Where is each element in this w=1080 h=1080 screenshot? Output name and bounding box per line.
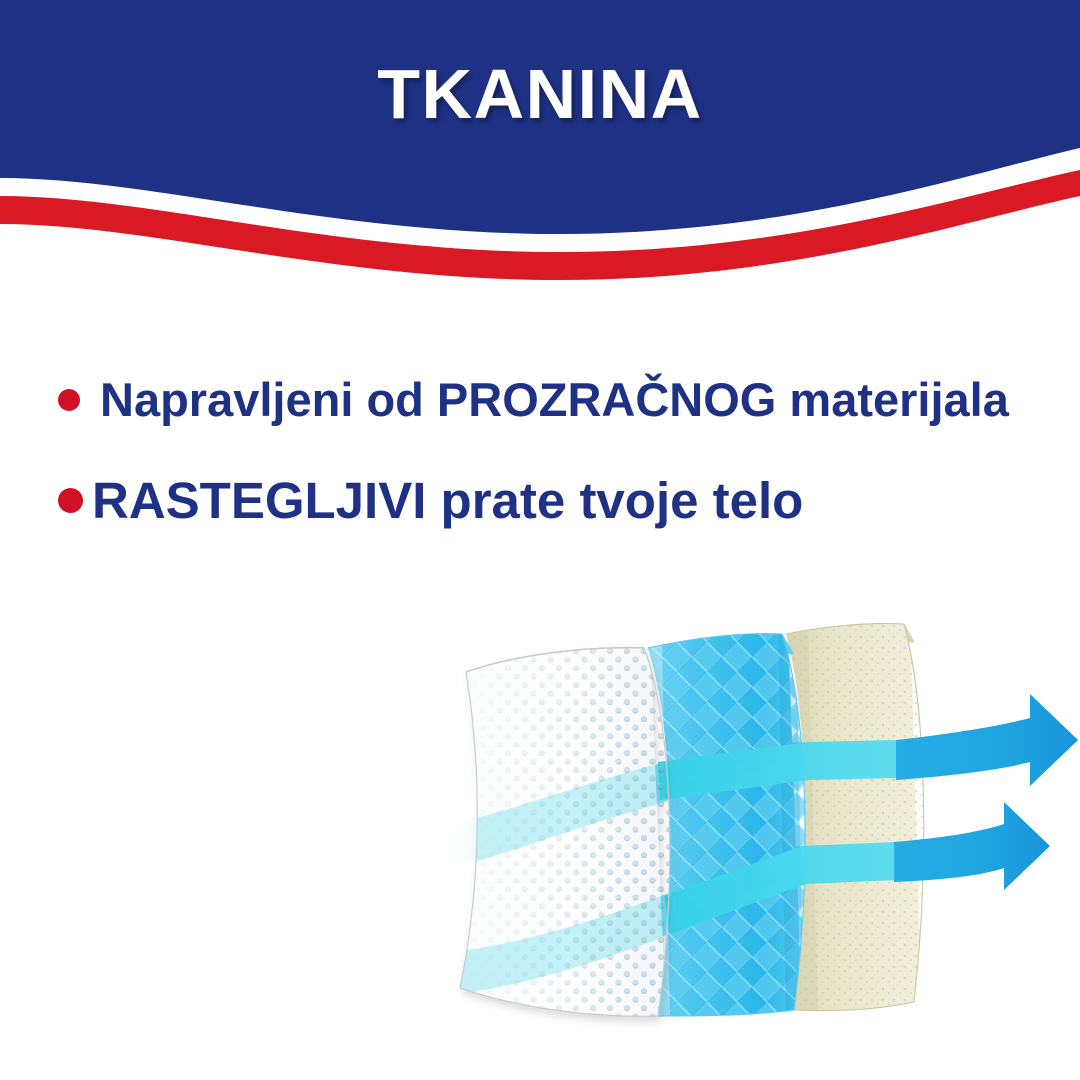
bullet-dot-icon [58, 389, 80, 411]
bullet-label-2: RASTEGLJIVI prate tvoje telo [92, 475, 803, 526]
perforated-mesh-layer [452, 612, 692, 1080]
bullet-label-1: Napravljeni od PROZRAČNOG materijala [100, 376, 1009, 423]
bullet-item-2: RASTEGLJIVI prate tvoje telo [58, 475, 1068, 526]
header-banner: TKANINA [0, 0, 1080, 290]
header-wave-graphic [0, 0, 1080, 290]
airflow-arrow-top [896, 694, 1078, 786]
page-title: TKANINA [0, 58, 1080, 132]
fabric-layers-illustration [452, 612, 1080, 1080]
bullet-dot-icon [58, 488, 83, 513]
bullet-list: Napravljeni od PROZRAČNOG materijala RAS… [58, 376, 1068, 526]
fabric-layers-graphic [452, 612, 1080, 1080]
bullet-item-1: Napravljeni od PROZRAČNOG materijala [58, 376, 1068, 423]
